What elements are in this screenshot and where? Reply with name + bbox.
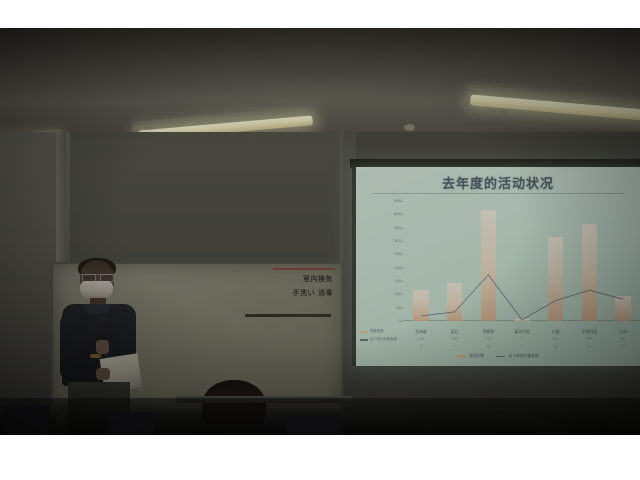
row-key-label-1: 実施回数 [370, 328, 384, 333]
legend-label-bar: 実施回数 [469, 353, 484, 359]
row-key-label-2: 延べ参加対象者数 [370, 336, 397, 341]
y-tick-mark [401, 241, 403, 242]
category-labels: 北海道東北首都圏東海北陸近畿中国四国九州 [404, 329, 640, 337]
legend-item-line: 延べ参加対象者数 [496, 353, 538, 359]
category-label: 首都圏 [483, 329, 494, 335]
whiteboard-black-marker-stroke [245, 314, 331, 317]
y-tick-mark [401, 321, 403, 322]
data-value-label: 4 [420, 345, 422, 349]
y-tick-mark [401, 268, 403, 269]
y-tick-label: 400 [394, 212, 401, 216]
data-value-label: 7 [453, 345, 455, 349]
projection-screen: 去年度的活动状况 050100150200250300350400450 北海道… [356, 167, 640, 366]
series1-value-row: 113139412131135990 [404, 337, 640, 345]
data-value-label: 1 [521, 337, 523, 341]
legend-swatch-bar-icon [457, 355, 466, 358]
y-tick-mark [401, 214, 403, 215]
row-key-swatch-bar [360, 331, 368, 333]
bar-chart-plot-area: 050100150200250300350400450 [404, 201, 640, 321]
chart-legend: 実施回数 延べ参加対象者数 [356, 353, 640, 359]
presenter-wristwatch [90, 354, 101, 358]
y-tick-mark [401, 294, 403, 295]
ceiling [0, 28, 640, 148]
category-label: 中国四国 [582, 329, 597, 335]
category-label: 近畿 [552, 329, 560, 335]
y-tick-mark [401, 228, 403, 229]
y-tick-mark [401, 201, 403, 202]
chair-left [6, 406, 50, 435]
presenter-collar [84, 304, 110, 314]
category-label: 東北 [451, 329, 459, 335]
y-tick-label: 150 [394, 279, 401, 283]
presenter-left-arm [60, 314, 80, 380]
data-value-label: 1 [521, 345, 523, 349]
y-tick-label: 450 [394, 199, 401, 203]
chair-center [108, 412, 154, 435]
data-value-label: 311 [552, 337, 558, 341]
data-value-label: 90 [621, 337, 625, 341]
presenter-hand-on-microphone [96, 340, 109, 354]
category-label: 九州 [619, 329, 627, 335]
line-series [404, 201, 640, 321]
series2-value-row: 47361162417 [404, 345, 640, 353]
data-value-label: 36 [486, 345, 490, 349]
y-tick-mark [401, 254, 403, 255]
slide-title: 去年度的活动状况 [356, 173, 640, 192]
chair-right [286, 416, 342, 435]
y-tick-label: 250 [394, 252, 401, 256]
data-value-label: 16 [554, 345, 558, 349]
y-tick-label: 100 [394, 292, 401, 296]
row-key-swatch-line [360, 339, 368, 341]
y-tick-label: 300 [394, 239, 401, 243]
y-tick-label: 200 [394, 266, 401, 270]
screenshot-canvas: 室内換気 手洗い 消毒 去年度的活动状况 0501001502002503003… [0, 0, 640, 480]
whiteboard-red-marker-stroke [273, 268, 335, 270]
data-value-label: 359 [586, 337, 592, 341]
smoke-detector-icon [404, 124, 415, 131]
data-value-label: 24 [587, 345, 591, 349]
legend-swatch-line-icon [496, 356, 505, 357]
y-tick-label: 350 [394, 226, 401, 230]
y-tick-mark [401, 281, 403, 282]
legend-item-bar: 実施回数 [457, 353, 484, 359]
whiteboard-line-2: 手洗い 消毒 [293, 288, 333, 298]
whiteboard-line-1: 室内換気 [303, 274, 333, 284]
photograph: 室内換気 手洗い 消毒 去年度的活动状况 0501001502002503003… [0, 28, 640, 435]
presenter-hand-on-papers [96, 368, 110, 380]
data-value-label: 17 [621, 345, 625, 349]
y-tick-mark [401, 308, 403, 309]
data-value-label: 412 [485, 337, 491, 341]
data-value-label: 139 [451, 337, 457, 341]
data-value-label: 113 [418, 337, 424, 341]
category-label: 東海北陸 [514, 329, 529, 335]
category-label: 北海道 [415, 329, 426, 335]
title-underline [372, 193, 624, 194]
legend-label-line: 延べ参加対象者数 [508, 353, 538, 359]
